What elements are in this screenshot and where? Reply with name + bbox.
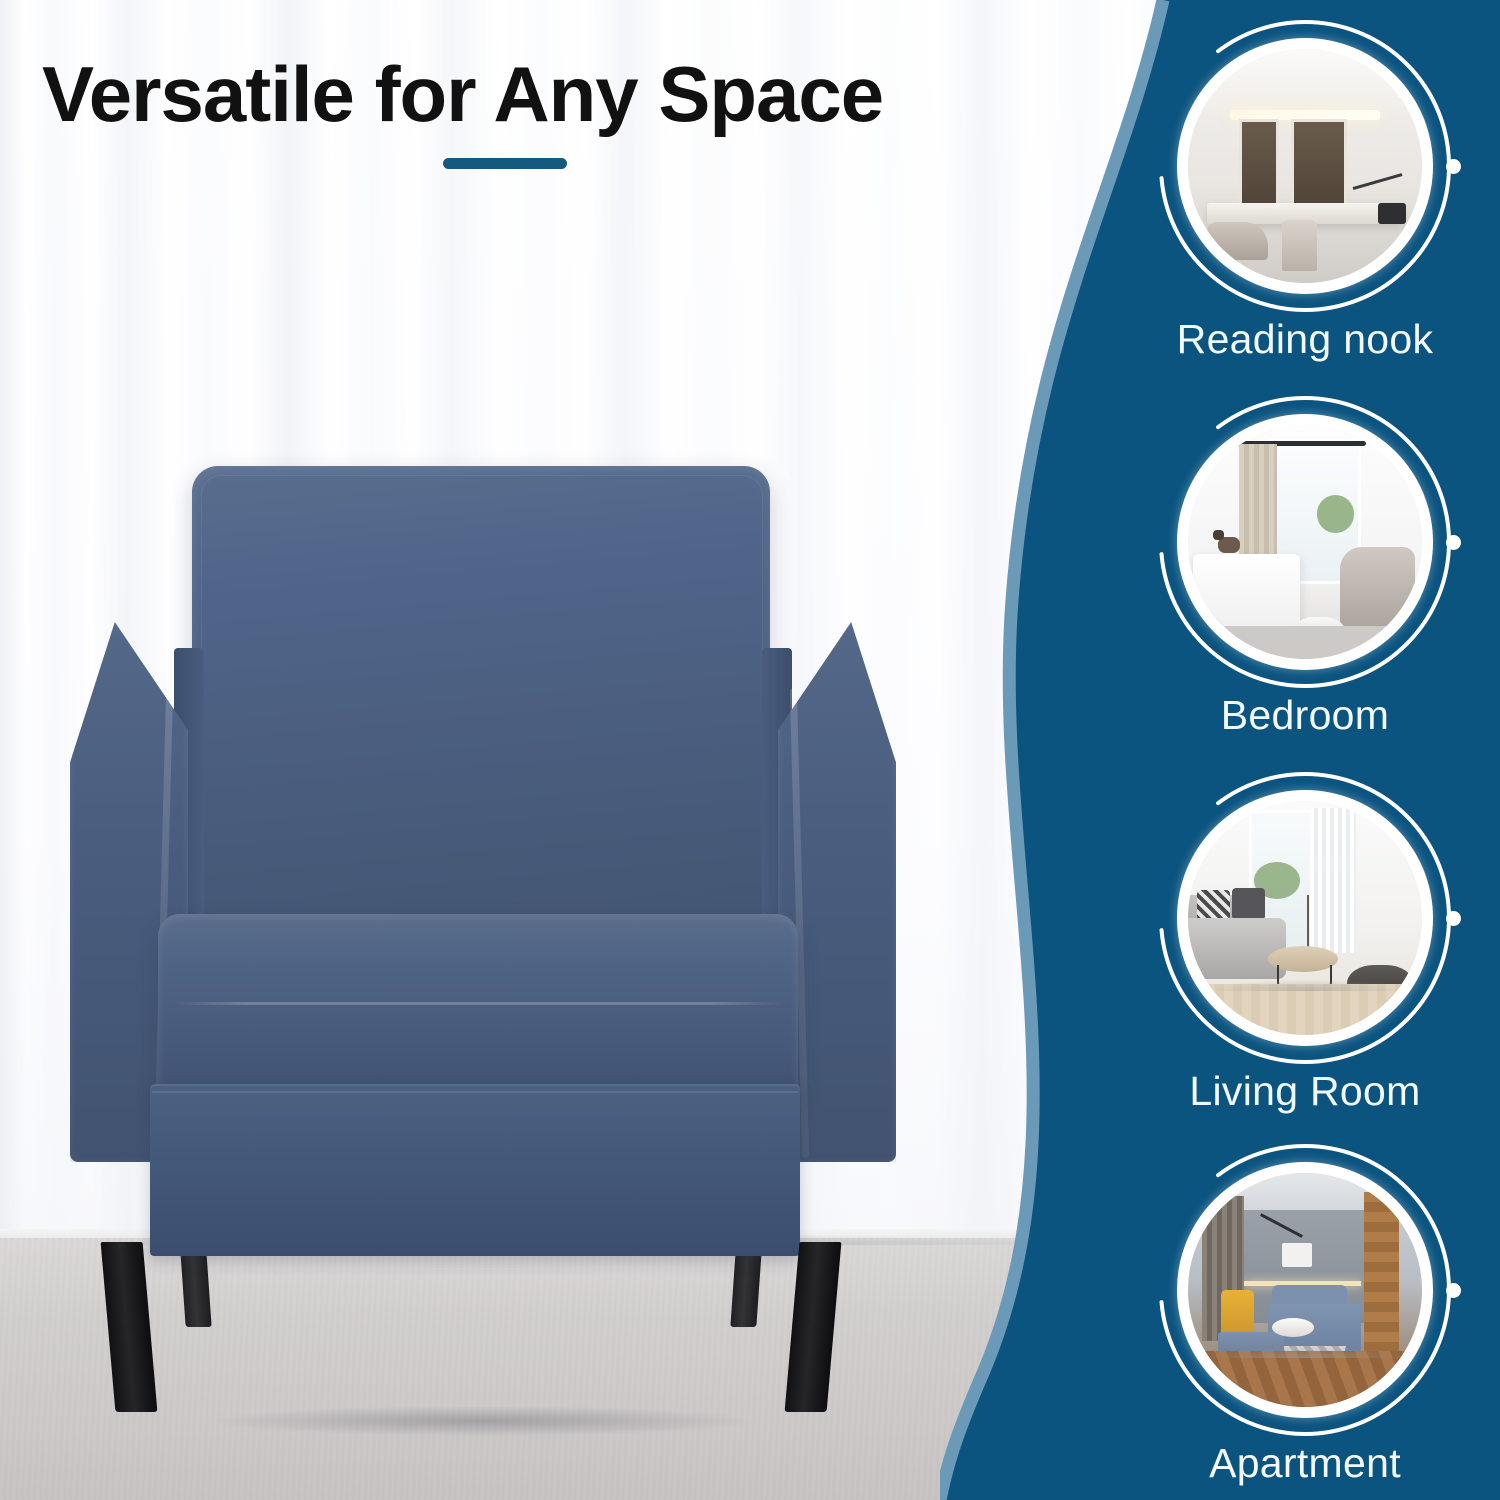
use-case-thumbnail-2 — [1188, 801, 1422, 1035]
connector-dot — [1446, 535, 1461, 550]
use-case-label-3: Apartment — [1115, 1440, 1495, 1487]
chair-seat-cushion — [158, 914, 798, 1106]
title-underline-accent — [443, 158, 567, 169]
use-case-thumbnail-0 — [1188, 49, 1422, 283]
chair-shadow — [102, 1400, 862, 1442]
use-case-thumbnail-3 — [1188, 1173, 1422, 1407]
armchair — [62, 452, 932, 1452]
chair-leg-front-left — [101, 1242, 158, 1412]
use-case-panel: Reading nook Bedroom — [940, 0, 1500, 1500]
connector-dot — [1446, 911, 1461, 926]
connector-dot — [1446, 1283, 1461, 1298]
use-case-label-0: Reading nook — [1115, 316, 1495, 363]
infographic-canvas: Versatile for Any Space — [0, 0, 1500, 1500]
chair-back-cushion — [192, 466, 770, 958]
use-case-label-1: Bedroom — [1115, 692, 1495, 739]
use-case-thumbnail-1 — [1188, 425, 1422, 659]
chair-base-skirt — [150, 1084, 800, 1256]
chair-leg-front-right — [785, 1242, 842, 1412]
page-title: Versatile for Any Space — [42, 55, 1042, 135]
connector-dot — [1446, 159, 1461, 174]
use-case-label-2: Living Room — [1115, 1068, 1495, 1115]
